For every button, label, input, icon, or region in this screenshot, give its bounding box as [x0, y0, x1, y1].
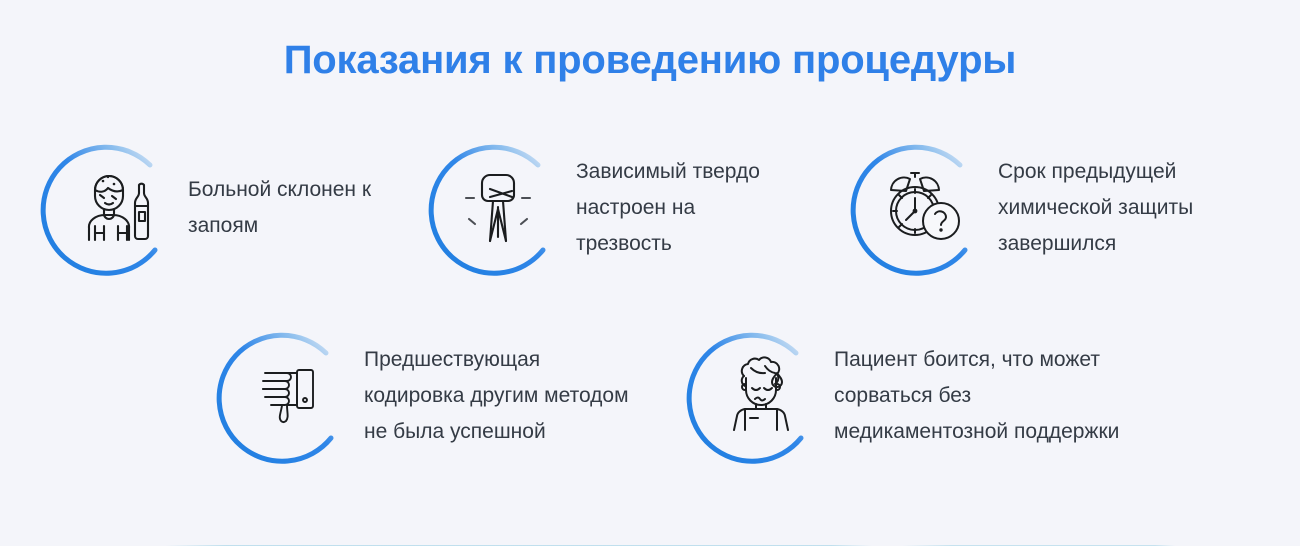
- card-4-line-3: не была успешной: [364, 414, 629, 450]
- card-3-line-3: завершился: [998, 226, 1193, 262]
- card-3-line-2: химической защиты: [998, 190, 1193, 226]
- icon-ring-4: [228, 326, 354, 466]
- card-2-line-3: трезвость: [576, 226, 760, 262]
- icon-ring-3: [862, 138, 988, 278]
- card-5-line-3: медикаментозной поддержки: [834, 414, 1119, 450]
- indication-card-4: Предшествующая кодировка другим методом …: [228, 326, 629, 466]
- alarm-clock-question-icon: [862, 138, 988, 278]
- indication-card-1: Больной склонен к запоям: [52, 138, 371, 278]
- indication-card-2-text: Зависимый твердо настроен на трезвость: [576, 154, 760, 262]
- drunk-person-with-bottle-icon: [52, 138, 178, 278]
- card-1-line-1: Больной склонен к: [188, 172, 371, 208]
- card-2-line-2: настроен на: [576, 190, 760, 226]
- card-2-line-1: Зависимый твердо: [576, 154, 760, 190]
- thumbs-down-icon: [228, 326, 354, 466]
- worried-sweating-person-icon: [698, 326, 824, 466]
- icon-ring-5: [698, 326, 824, 466]
- indication-card-2: Зависимый твердо настроен на трезвость: [440, 138, 760, 278]
- indication-card-4-text: Предшествующая кодировка другим методом …: [364, 342, 629, 450]
- card-4-line-1: Предшествующая: [364, 342, 629, 378]
- determined-person-icon: [440, 138, 566, 278]
- icon-ring-2: [440, 138, 566, 278]
- icon-ring-1: [52, 138, 178, 278]
- indication-card-1-text: Больной склонен к запоям: [188, 172, 371, 244]
- card-5-line-2: сорваться без: [834, 378, 1119, 414]
- indication-card-5-text: Пациент боится, что может сорваться без …: [834, 342, 1119, 450]
- infographic-root: Показания к проведению процедуры: [0, 0, 1300, 546]
- card-3-line-1: Срок предыдущей: [998, 154, 1193, 190]
- indication-card-3: Срок предыдущей химической защиты заверш…: [862, 138, 1193, 278]
- card-5-line-1: Пациент боится, что может: [834, 342, 1119, 378]
- page-title: Показания к проведению процедуры: [0, 38, 1300, 83]
- indication-card-3-text: Срок предыдущей химической защиты заверш…: [998, 154, 1193, 262]
- indication-card-5: Пациент боится, что может сорваться без …: [698, 326, 1119, 466]
- card-4-line-2: кодировка другим методом: [364, 378, 629, 414]
- card-1-line-2: запоям: [188, 208, 371, 244]
